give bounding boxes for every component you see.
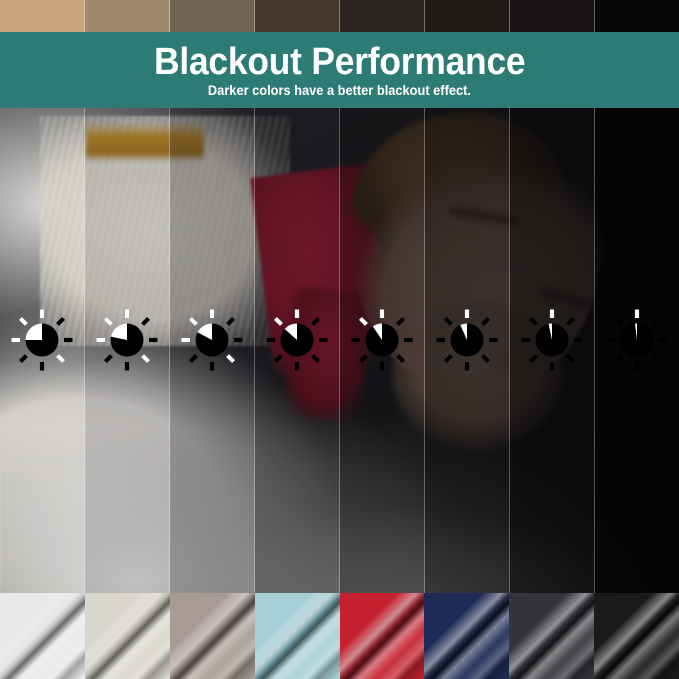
top-color-strip bbox=[0, 0, 679, 32]
header-banner: Blackout Performance Darker colors have … bbox=[0, 32, 679, 108]
swatch-sheen-secondary bbox=[594, 593, 679, 679]
swatch-sheen-secondary bbox=[255, 593, 340, 679]
page-title: Blackout Performance bbox=[154, 43, 525, 82]
top-strip-band-4 bbox=[255, 0, 340, 32]
fabric-swatch-6[interactable] bbox=[424, 593, 509, 679]
fabric-swatch-1[interactable] bbox=[0, 593, 85, 679]
swatch-sheen-secondary bbox=[424, 593, 509, 679]
swatch-sheen-secondary bbox=[170, 593, 255, 679]
fabric-swatch-4[interactable] bbox=[255, 593, 340, 679]
swatch-sheen-secondary bbox=[85, 593, 170, 679]
page-subtitle: Darker colors have a better blackout eff… bbox=[208, 84, 471, 99]
swatch-sheen-secondary bbox=[509, 593, 594, 679]
top-strip-band-6 bbox=[425, 0, 510, 32]
blackout-performance-poster: Blackout Performance Darker colors have … bbox=[0, 0, 679, 679]
fabric-swatch-2[interactable] bbox=[85, 593, 170, 679]
fabric-swatch-strip bbox=[0, 593, 679, 679]
top-strip-band-5 bbox=[340, 0, 425, 32]
top-strip-band-7 bbox=[510, 0, 595, 32]
swatch-sheen-secondary bbox=[340, 593, 425, 679]
fabric-swatch-3[interactable] bbox=[170, 593, 255, 679]
fabric-swatch-8[interactable] bbox=[594, 593, 679, 679]
fabric-swatch-7[interactable] bbox=[509, 593, 594, 679]
top-strip-band-2 bbox=[85, 0, 170, 32]
swatch-sheen-secondary bbox=[0, 593, 85, 679]
fabric-swatch-5[interactable] bbox=[340, 593, 425, 679]
top-strip-band-3 bbox=[170, 0, 255, 32]
top-strip-band-8 bbox=[595, 0, 679, 32]
top-strip-band-1 bbox=[0, 0, 85, 32]
